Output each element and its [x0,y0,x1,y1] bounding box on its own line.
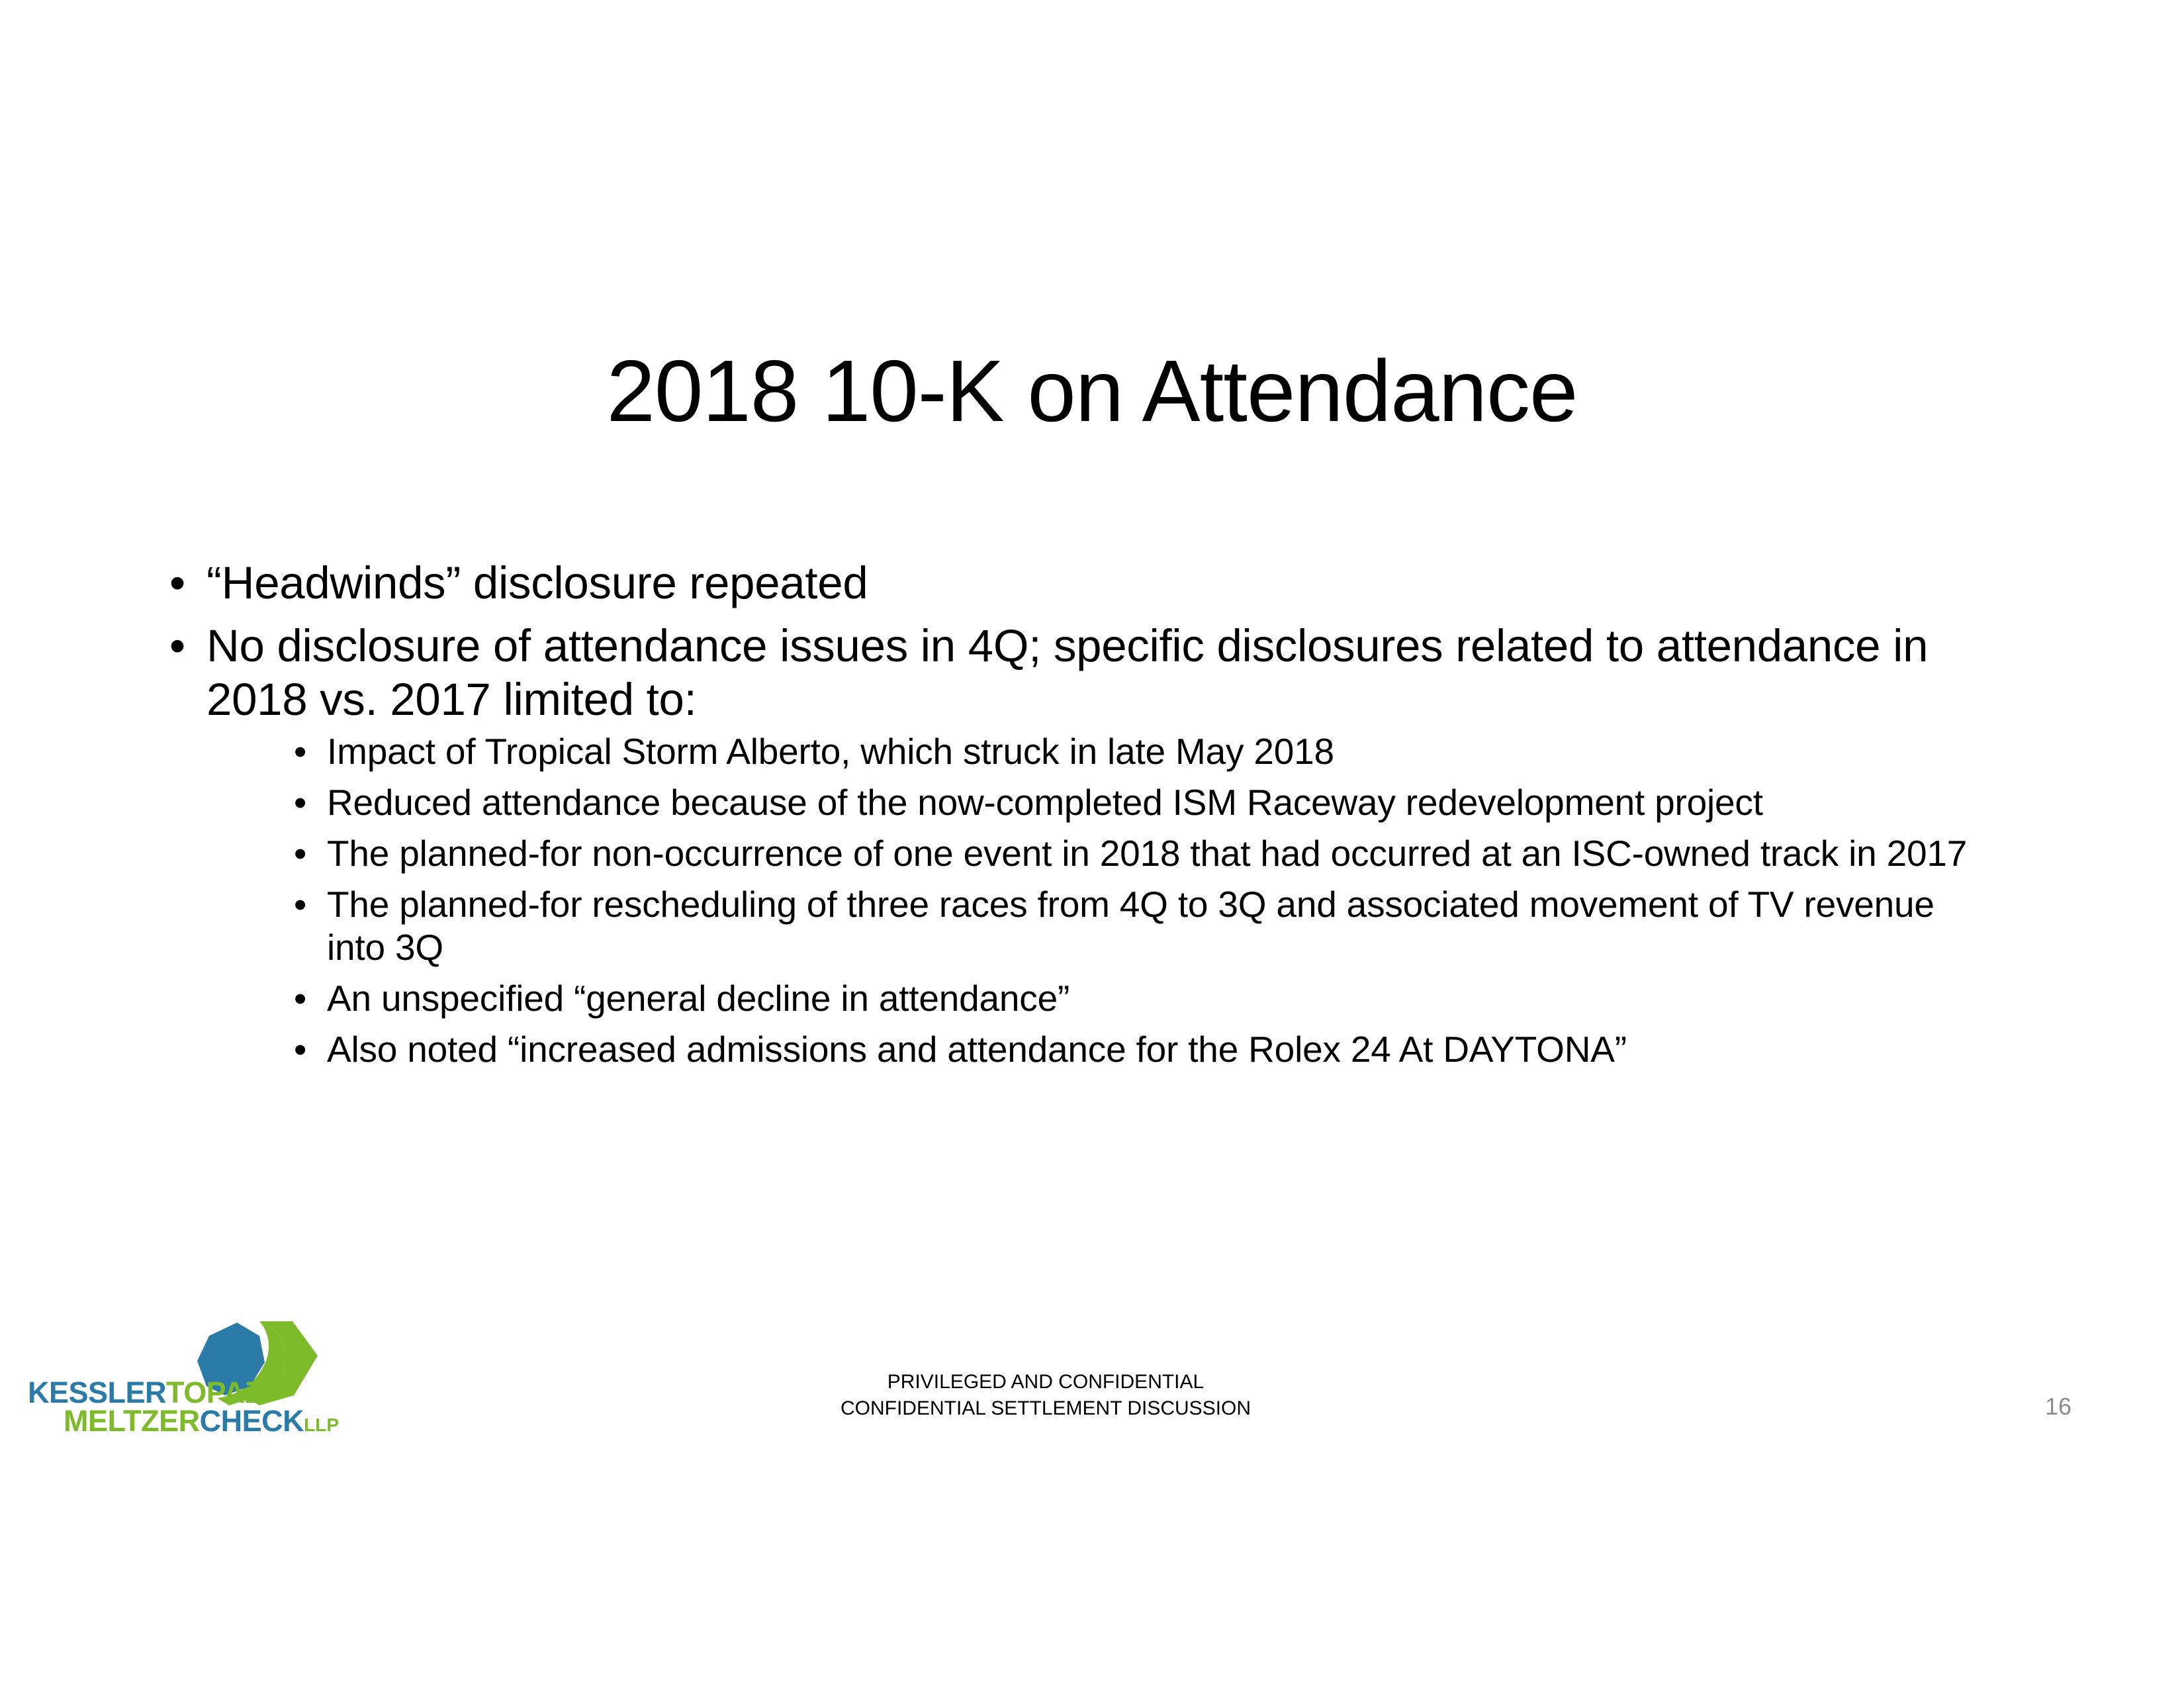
bullet-glyph-icon: • [294,977,306,1020]
bullet-glyph-icon: • [294,883,306,926]
bullet-glyph-icon: • [294,781,306,824]
list-item-text: Impact of Tropical Storm Alberto, which … [327,731,1334,772]
list-item: • The planned-for non-occurrence of one … [291,832,1979,875]
logo-text-llp: LLP [304,1415,339,1435]
list-item-text: No disclosure of attendance issues in 4Q… [206,620,1928,725]
logo-wordmark: KESSLERTOPAZ MELTZERCHECKLLP [26,1378,384,1438]
list-item-text: Reduced attendance because of the now-co… [327,782,1763,823]
list-item-text: The planned-for non-occurrence of one ev… [327,833,1967,874]
slide: 2018 10-K on Attendance • “Headwinds” di… [0,0,2184,1688]
list-item-text: An unspecified “general decline in atten… [327,978,1069,1019]
bullet-list-level2: • Impact of Tropical Storm Alberto, whic… [206,730,1979,1070]
list-item-text: Also noted “increased admissions and att… [327,1029,1627,1070]
list-item: • The planned-for rescheduling of three … [291,883,1979,969]
kessler-topaz-logo: KESSLERTOPAZ MELTZERCHECKLLP [26,1317,384,1440]
bullet-glyph-icon: • [294,832,306,875]
bullet-glyph-icon: • [294,730,306,773]
logo-text-check: CHECK [200,1404,304,1438]
confidentiality-footer: PRIVILEGED AND CONFIDENTIAL CONFIDENTIAL… [675,1369,1416,1422]
list-item: • No disclosure of attendance issues in … [165,619,1979,1070]
list-item-text: The planned-for rescheduling of three ra… [327,884,1934,968]
bullet-list-level1: • “Headwinds” disclosure repeated • No d… [165,556,1979,1070]
page-title: 2018 10-K on Attendance [0,344,2184,439]
logo-wordmark-row2: MELTZERCHECKLLP [26,1407,384,1435]
footer-line-settlement: CONFIDENTIAL SETTLEMENT DISCUSSION [675,1395,1416,1422]
list-item: • “Headwinds” disclosure repeated [165,556,1979,610]
list-item: • Reduced attendance because of the now-… [291,781,1979,824]
logo-wordmark-row1: KESSLERTOPAZ [26,1378,384,1407]
logo-text-meltzer: MELTZER [64,1404,200,1438]
footer-line-privileged: PRIVILEGED AND CONFIDENTIAL [675,1369,1416,1395]
page-number: 16 [2045,1393,2124,1421]
body-content: • “Headwinds” disclosure repeated • No d… [165,556,1979,1080]
list-item-text: “Headwinds” disclosure repeated [206,557,868,608]
list-item: • Impact of Tropical Storm Alberto, whic… [291,730,1979,773]
bullet-glyph-icon: • [169,556,185,610]
list-item: • Also noted “increased admissions and a… [291,1028,1979,1071]
bullet-glyph-icon: • [169,619,185,673]
bullet-glyph-icon: • [294,1028,306,1071]
list-item: • An unspecified “general decline in att… [291,977,1979,1020]
